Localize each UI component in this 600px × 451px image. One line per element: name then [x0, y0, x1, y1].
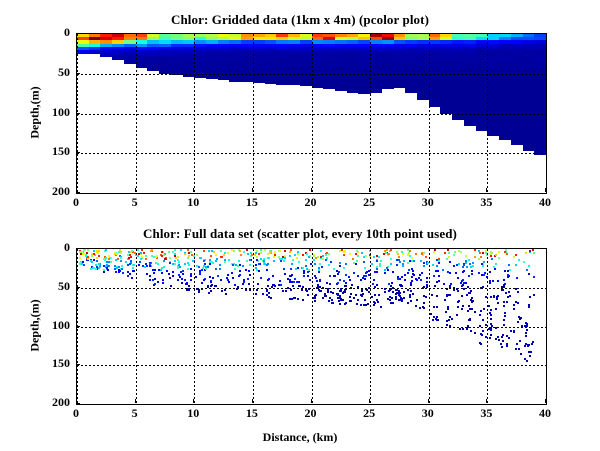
scatter-point: [376, 284, 378, 286]
scatter-point: [472, 300, 474, 302]
scatter-point: [371, 263, 373, 265]
scatter-point: [510, 330, 512, 332]
scatter-point: [228, 259, 230, 261]
scatter-point: [208, 292, 210, 294]
scatter-point: [83, 249, 85, 251]
scatter-point: [457, 306, 459, 308]
scatter-point: [456, 314, 458, 316]
scatter-point: [448, 319, 450, 321]
scatter-point: [515, 264, 517, 266]
scatter-point: [363, 275, 365, 277]
scatter-point: [196, 254, 198, 256]
scatter-point: [130, 260, 132, 262]
scatter-point: [227, 274, 229, 276]
scatter-point: [337, 294, 339, 296]
scatter-point: [461, 295, 463, 297]
scatter-point: [501, 289, 503, 291]
scatter-point: [330, 291, 332, 293]
scatter-point: [426, 277, 428, 279]
scatter-point: [526, 269, 528, 271]
scatter-point: [329, 275, 331, 277]
scatter-point: [163, 254, 165, 256]
scatter-point: [181, 282, 183, 284]
scatter-point: [319, 263, 321, 265]
scatter-point: [395, 298, 397, 300]
scatter-point: [447, 308, 449, 310]
scatter-point: [492, 280, 494, 282]
scatter-point: [513, 308, 515, 310]
scatter-point: [87, 249, 89, 251]
scatter-point: [130, 251, 132, 253]
scatter-point: [507, 274, 509, 276]
scatter-point: [267, 285, 269, 287]
scatter-point: [209, 276, 211, 278]
scatter-point: [449, 261, 451, 263]
scatter-point: [486, 254, 488, 256]
scatter-point: [246, 260, 248, 262]
scatter-point: [273, 260, 275, 262]
scatter-point: [378, 256, 380, 258]
scatter-point: [305, 289, 307, 291]
scatter-point: [513, 256, 515, 258]
scatter-point: [415, 305, 417, 307]
scatter-point: [462, 328, 464, 330]
scatter-point: [356, 303, 358, 305]
scatter-point: [328, 253, 330, 255]
axis-tick-label-x: 10: [173, 195, 213, 210]
scatter-point: [363, 261, 365, 263]
scatter-point: [523, 261, 525, 263]
scatter-point: [264, 249, 266, 251]
axis-tick-label-x: 40: [525, 406, 565, 421]
scatter-point: [332, 292, 334, 294]
scatter-point: [310, 263, 312, 265]
scatter-point: [96, 251, 98, 253]
scatter-point: [501, 336, 503, 338]
axis-tick-y: [76, 152, 80, 153]
scatter-point: [200, 257, 202, 259]
scatter-point: [438, 275, 440, 277]
scatter-point: [131, 277, 133, 279]
scatter-point: [339, 262, 341, 264]
scatter-point: [203, 279, 205, 281]
scatter-point: [268, 257, 270, 259]
scatter-point: [319, 279, 321, 281]
scatter-point: [138, 264, 140, 266]
scatter-point: [121, 268, 123, 270]
scatter-point: [289, 251, 291, 253]
scatter-point: [242, 265, 244, 267]
axis-tick-label-y: 0: [30, 240, 70, 255]
scatter-point: [342, 299, 344, 301]
scatter-point: [178, 264, 180, 266]
axis-tick-label-y: 200: [30, 184, 70, 199]
scatter-point: [463, 270, 465, 272]
scatter-point: [187, 249, 189, 251]
scatter-point: [384, 288, 386, 290]
scatter-point: [328, 264, 330, 266]
scatter-point: [264, 263, 266, 265]
scatter-point: [140, 252, 142, 254]
scatter-point: [169, 257, 171, 259]
scatter-point: [217, 275, 219, 277]
pcolor-cell: [534, 152, 546, 156]
scatter-point: [255, 293, 257, 295]
scatter-point: [483, 274, 485, 276]
scatter-point: [485, 324, 487, 326]
scatter-point: [482, 319, 484, 321]
scatter-point: [509, 269, 511, 271]
scatter-point: [245, 269, 247, 271]
scatter-point: [369, 250, 371, 252]
scatter-point: [461, 308, 463, 310]
scatter-point: [423, 262, 425, 264]
scatter-point: [145, 258, 147, 260]
axis-tick-label-x: 20: [291, 406, 331, 421]
scatter-point: [207, 286, 209, 288]
axis-tick-y: [76, 113, 80, 114]
scatter-point: [203, 265, 205, 267]
scatter-point: [268, 292, 270, 294]
scatter-point: [525, 335, 527, 337]
scatter-point: [169, 262, 171, 264]
scatter-point: [182, 273, 184, 275]
scatter-point: [177, 279, 179, 281]
scatter-point: [289, 255, 291, 257]
scatter-point: [520, 353, 522, 355]
scatter-point: [502, 340, 504, 342]
scatter-point: [185, 283, 187, 285]
scatter-point: [490, 296, 492, 298]
scatter-point: [425, 256, 427, 258]
scatter-point: [380, 260, 382, 262]
scatter-point: [376, 271, 378, 273]
scatter-point: [494, 268, 496, 270]
scatter-point: [149, 275, 151, 277]
axis-tick-x: [428, 188, 429, 192]
scatter-point: [436, 265, 438, 267]
scatter-point: [531, 343, 533, 345]
scatter-point: [408, 252, 410, 254]
scatter-point: [525, 343, 527, 345]
scatter-point: [180, 249, 182, 251]
scatter-point: [139, 261, 141, 263]
scatter-point: [360, 279, 362, 281]
scatter-point: [172, 275, 174, 277]
scatter-point: [498, 251, 500, 253]
scatter-point: [432, 319, 434, 321]
scatter-point: [485, 252, 487, 254]
scatter-point: [490, 318, 492, 320]
scatter-point: [329, 283, 331, 285]
scatter-point: [303, 275, 305, 277]
scatter-point: [327, 288, 329, 290]
scatter-point: [373, 256, 375, 258]
scatter-point: [465, 262, 467, 264]
scatter-point: [407, 262, 409, 264]
scatter-point: [357, 286, 359, 288]
scatter-point: [530, 351, 532, 353]
scatter-point: [377, 301, 379, 303]
pcolor-cell: [429, 104, 441, 107]
scatter-point: [134, 252, 136, 254]
axis-tick-x: [486, 188, 487, 192]
pcolor-cell: [476, 129, 488, 130]
scatter-point: [360, 304, 362, 306]
scatter-point: [340, 288, 342, 290]
scatter-point: [120, 252, 122, 254]
scatter-point: [533, 276, 535, 278]
scatter-point: [364, 278, 366, 280]
scatter-point: [227, 279, 229, 281]
scatter-point: [169, 277, 171, 279]
scatter-point: [355, 294, 357, 296]
scatter-point: [486, 276, 488, 278]
scatter-point: [503, 279, 505, 281]
scatter-point: [361, 252, 363, 254]
figure-canvas: Chlor: Gridded data (1km x 4m) (pcolor p…: [0, 0, 600, 451]
scatter-point: [116, 253, 118, 255]
scatter-point: [211, 284, 213, 286]
pcolor-cell: [464, 123, 476, 126]
scatter-point: [128, 257, 130, 259]
axis-tick-label-x: 15: [232, 406, 272, 421]
scatter-point: [284, 257, 286, 259]
scatter-point: [374, 271, 376, 273]
scatter-point: [384, 269, 386, 271]
scatter-point: [348, 276, 350, 278]
scatter-point: [479, 252, 481, 254]
scatter-point: [314, 263, 316, 265]
scatter-point: [478, 258, 480, 260]
scatter-point: [279, 280, 281, 282]
scatter-point: [407, 272, 409, 274]
axis-tick-x: [135, 188, 136, 192]
scatter-point: [161, 267, 163, 269]
scatter-point: [174, 253, 176, 255]
scatter-point: [107, 269, 109, 271]
scatter-point: [166, 270, 168, 272]
scatter-point: [357, 299, 359, 301]
axis-tick-label-x: 30: [408, 195, 448, 210]
scatter-point: [90, 268, 92, 270]
scatter-point: [378, 294, 380, 296]
scatter-point: [362, 293, 364, 295]
scatter-point: [457, 277, 459, 279]
scatter-point: [524, 345, 526, 347]
scatter-point: [339, 279, 341, 281]
scatter-point: [434, 249, 436, 251]
scatter-point: [95, 264, 97, 266]
scatter-point: [465, 282, 467, 284]
scatter-point: [386, 249, 388, 251]
scatter-point: [497, 295, 499, 297]
scatter-point: [472, 262, 474, 264]
panel2-xlabel: Distance, (km): [0, 430, 600, 445]
scatter-point: [314, 275, 316, 277]
scatter-point: [305, 259, 307, 261]
scatter-point: [239, 264, 241, 266]
scatter-point: [211, 250, 213, 252]
scatter-point: [495, 338, 497, 340]
scatter-point: [423, 302, 425, 304]
scatter-point: [341, 249, 343, 251]
pcolor-cell: [312, 85, 324, 88]
scatter-point: [249, 264, 251, 266]
scatter-point: [220, 256, 222, 258]
scatter-point: [198, 291, 200, 293]
scatter-point: [412, 293, 414, 295]
scatter-point: [267, 279, 269, 281]
scatter-point: [474, 256, 476, 258]
scatter-point: [243, 251, 245, 253]
scatter-point: [403, 260, 405, 262]
scatter-point: [313, 255, 315, 257]
scatter-point: [485, 336, 487, 338]
scatter-point: [156, 255, 158, 257]
scatter-point: [243, 279, 245, 281]
scatter-point: [331, 299, 333, 301]
scatter-point: [402, 265, 404, 267]
scatter-point: [224, 289, 226, 291]
scatter-point: [436, 316, 438, 318]
scatter-point: [495, 263, 497, 265]
scatter-point: [339, 303, 341, 305]
scatter-point: [224, 259, 226, 261]
scatter-point: [528, 304, 530, 306]
scatter-point: [482, 265, 484, 267]
scatter-point: [93, 250, 95, 252]
scatter-point: [506, 345, 508, 347]
scatter-point: [120, 257, 122, 259]
scatter-point: [527, 345, 529, 347]
scatter-point: [140, 258, 142, 260]
scatter-point: [133, 270, 135, 272]
scatter-point: [106, 264, 108, 266]
scatter-point: [374, 294, 376, 296]
scatter-point: [435, 318, 437, 320]
scatter-point: [274, 252, 276, 254]
scatter-point: [267, 263, 269, 265]
scatter-point: [479, 325, 481, 327]
pcolor-cell: [300, 85, 312, 86]
scatter-point: [260, 258, 262, 260]
axis-tick-label-y: 200: [30, 395, 70, 410]
scatter-point: [91, 261, 93, 263]
scatter-point: [461, 285, 463, 287]
pcolor-cell: [100, 53, 112, 57]
scatter-point: [390, 258, 392, 260]
scatter-point: [322, 287, 324, 289]
scatter-point: [508, 264, 510, 266]
scatter-point: [451, 318, 453, 320]
scatter-point: [220, 250, 222, 252]
scatter-point: [303, 272, 305, 274]
scatter-point: [246, 249, 248, 251]
pcolor-cell: [358, 91, 370, 94]
scatter-point: [154, 269, 156, 271]
scatter-point: [468, 275, 470, 277]
scatter-point: [295, 268, 297, 270]
scatter-point: [351, 284, 353, 286]
scatter-point: [321, 266, 323, 268]
scatter-point: [237, 286, 239, 288]
axis-tick-label-x: 15: [232, 195, 272, 210]
scatter-point: [467, 326, 469, 328]
scatter-point: [296, 257, 298, 259]
scatter-point: [302, 299, 304, 301]
scatter-point: [365, 255, 367, 257]
scatter-point: [195, 276, 197, 278]
scatter-point: [525, 252, 527, 254]
scatter-point: [240, 254, 242, 256]
axis-tick-label-x: 5: [115, 195, 155, 210]
pcolor-cell: [276, 82, 288, 85]
scatter-point: [457, 290, 459, 292]
scatter-point: [93, 253, 95, 255]
scatter-point: [179, 266, 181, 268]
scatter-point: [489, 312, 491, 314]
scatter-point: [273, 256, 275, 258]
scatter-point: [410, 300, 412, 302]
axis-tick-label-x: 35: [466, 406, 506, 421]
scatter-point: [412, 270, 414, 272]
scatter-point: [463, 288, 465, 290]
scatter-point: [479, 314, 481, 316]
pcolor-cell: [347, 91, 359, 92]
scatter-point: [99, 265, 101, 267]
scatter-point: [79, 257, 81, 259]
scatter-point: [302, 254, 304, 256]
scatter-point: [513, 304, 515, 306]
scatter-point: [515, 254, 517, 256]
scatter-point: [498, 339, 500, 341]
scatter-point: [474, 311, 476, 313]
scatter-point: [255, 267, 257, 269]
axis-tick-label-x: 25: [349, 195, 389, 210]
scatter-point: [344, 250, 346, 252]
scatter-point: [120, 260, 122, 262]
scatter-point: [497, 280, 499, 282]
scatter-point: [410, 290, 412, 292]
axis-tick-x: [135, 399, 136, 403]
scatter-point: [456, 288, 458, 290]
scatter-point: [318, 289, 320, 291]
scatter-point: [528, 265, 530, 267]
scatter-point: [490, 334, 492, 336]
scatter-point: [196, 288, 198, 290]
scatter-point: [474, 332, 476, 334]
scatter-point: [248, 283, 250, 285]
scatter-point: [410, 284, 412, 286]
scatter-point: [457, 301, 459, 303]
scatter-point: [130, 256, 132, 258]
scatter-point: [498, 257, 500, 259]
axis-tick-y: [76, 192, 80, 193]
scatter-point: [137, 255, 139, 257]
scatter-point: [386, 267, 388, 269]
scatter-point: [337, 282, 339, 284]
axis-tick-x: [311, 188, 312, 192]
scatter-point: [433, 306, 435, 308]
axis-tick-label-x: 25: [349, 406, 389, 421]
scatter-point: [472, 265, 474, 267]
pcolor-cell: [206, 75, 218, 79]
scatter-point: [190, 251, 192, 253]
scatter-point: [193, 255, 195, 257]
scatter-point: [485, 250, 487, 252]
scatter-point: [481, 263, 483, 265]
